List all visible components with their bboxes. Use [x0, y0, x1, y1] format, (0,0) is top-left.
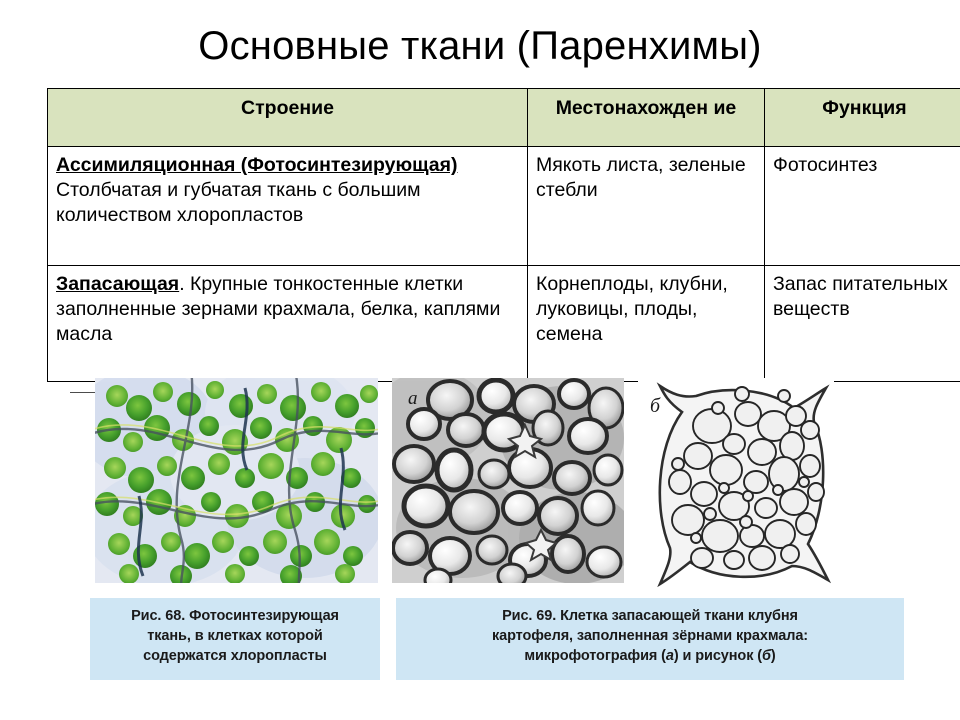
figure-connector-line	[70, 392, 96, 393]
figure-photosynthetic-tissue	[95, 378, 378, 583]
caption-69-prefix: микрофотография (	[524, 648, 666, 664]
caption-69-line-3: микрофотография (а) и рисунок (б)	[406, 646, 894, 666]
caption-69-line-2: картофеля, заполненная зёрнами крахмала:	[406, 626, 894, 646]
table-header-row: Строение Местонахожден ие Функция	[48, 89, 960, 147]
starch-drawing-image: б	[638, 378, 834, 588]
table-body: Ассимиляционная (Фотосинтезирующая) Стол…	[48, 147, 960, 382]
caption-69-label-a: а	[666, 648, 674, 664]
figure-starch-micrograph: а	[392, 378, 624, 583]
caption-69-label-b: б	[762, 648, 771, 664]
drawing-label-b: б	[650, 395, 661, 417]
micrograph-label-a: а	[408, 388, 418, 409]
caption-69-mid: ) и рисунок (	[674, 648, 762, 664]
table-header: Строение Местонахожден ие Функция	[48, 89, 960, 147]
column-header-structure: Строение	[48, 89, 528, 147]
caption-figure-69: Рис. 69. Клетка запасающей ткани клубня …	[396, 598, 904, 680]
tissue-term-storage: Запасающая	[56, 273, 179, 295]
table-row: Ассимиляционная (Фотосинтезирующая) Стол…	[48, 147, 960, 266]
tissue-term-assimilation: Ассимиляционная (Фотосинтезирующая)	[56, 154, 458, 176]
caption-69-suffix: )	[771, 648, 776, 664]
column-header-function: Функция	[765, 89, 960, 147]
cell-location-storage: Корнеплоды, клубни, луковицы, плоды, сем…	[528, 266, 765, 382]
starch-micrograph-image: а	[392, 378, 624, 583]
tissue-description-assimilation: Столбчатая и губчатая ткань с большим ко…	[56, 179, 421, 226]
column-header-location: Местонахожден ие	[528, 89, 765, 147]
cell-function-storage: Запас питательных веществ	[765, 266, 960, 382]
tissue-table: Строение Местонахожден ие Функция Ассими…	[47, 88, 960, 382]
slide-root: Основные ткани (Паренхимы) Строение Мест…	[0, 0, 960, 720]
cell-function-assimilation: Фотосинтез	[765, 147, 960, 266]
page-title: Основные ткани (Паренхимы)	[0, 22, 960, 70]
caption-69-line-1: Рис. 69. Клетка запасающей ткани клубня	[406, 606, 894, 626]
caption-figure-68: Рис. 68. Фотосинтезирующая ткань, в клет…	[90, 598, 380, 680]
cell-location-assimilation: Мякоть листа, зеленые стебли	[528, 147, 765, 266]
leaf-micrograph-image	[95, 378, 378, 583]
caption-68-line-2: ткань, в клетках которой	[100, 626, 370, 646]
caption-68-line-1: Рис. 68. Фотосинтезирующая	[100, 606, 370, 626]
cell-structure-assimilation: Ассимиляционная (Фотосинтезирующая) Стол…	[48, 147, 528, 266]
cell-structure-storage: Запасающая. Крупные тонкостенные клетки …	[48, 266, 528, 382]
figure-starch-drawing: б	[638, 378, 834, 588]
caption-68-line-3: содержатся хлоропласты	[100, 646, 370, 666]
table-row: Запасающая. Крупные тонкостенные клетки …	[48, 266, 960, 382]
